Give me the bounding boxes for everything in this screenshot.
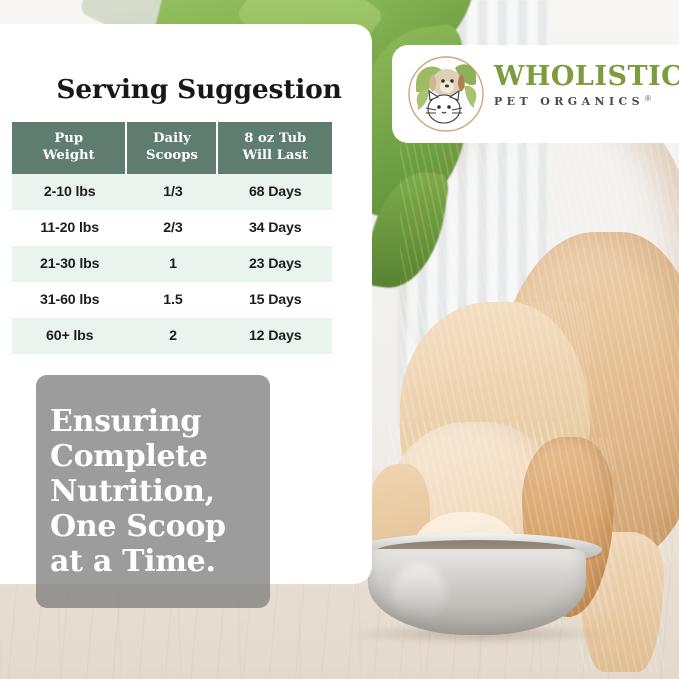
stainless-steel-dog-bowl [352, 533, 602, 641]
column-header-line1: Pup [54, 131, 83, 146]
brand-name: WHOLISTIC [494, 63, 679, 90]
tagline-panel: Ensuring Complete Nutrition, One Scoop a… [36, 375, 270, 608]
tagline-line: Ensuring [50, 404, 226, 439]
cell-weight: 31-60 lbs [12, 282, 127, 318]
serving-suggestion-table: Pup Weight Daily Scoops 8 oz Tub Will La… [12, 122, 332, 354]
golden-retriever-dog [372, 92, 679, 592]
cell-scoops: 1/3 [127, 174, 218, 210]
column-header-line2: Weight [43, 148, 95, 163]
tagline-text: Ensuring Complete Nutrition, One Scoop a… [36, 404, 226, 579]
tagline-line: Complete [50, 439, 226, 474]
cell-days: 12 Days [218, 318, 332, 354]
table-header-row: Pup Weight Daily Scoops 8 oz Tub Will La… [12, 122, 332, 174]
column-header-pup-weight: Pup Weight [12, 122, 127, 174]
tagline-line: Nutrition, [50, 474, 226, 509]
table-row: 31-60 lbs 1.5 15 Days [12, 282, 332, 318]
cell-scoops: 2/3 [127, 210, 218, 246]
cell-scoops: 2 [127, 318, 218, 354]
brand-wordmark: WHOLISTIC PET ORGANICS ® [494, 63, 679, 108]
column-header-line2: Will Last [242, 148, 308, 163]
registered-trademark-icon: ® [645, 95, 651, 103]
column-header-daily-scoops: Daily Scoops [127, 122, 218, 174]
column-header-tub-duration: 8 oz Tub Will Last [218, 122, 332, 174]
cell-scoops: 1 [127, 246, 218, 282]
column-header-line2: Scoops [146, 148, 198, 163]
cell-scoops: 1.5 [127, 282, 218, 318]
cell-weight: 11-20 lbs [12, 210, 127, 246]
cell-days: 23 Days [218, 246, 332, 282]
tagline-line: One Scoop [50, 509, 226, 544]
column-header-line1: 8 oz Tub [244, 131, 306, 146]
page-title: Serving Suggestion [44, 74, 354, 105]
cell-days: 68 Days [218, 174, 332, 210]
brand-logo-card: WHOLISTIC PET ORGANICS ® [392, 45, 679, 143]
cell-weight: 60+ lbs [12, 318, 127, 354]
dog-cat-leaf-badge-icon [406, 54, 486, 134]
infographic-canvas: Serving Suggestion Pup Weight Daily Scoo… [0, 0, 679, 679]
table-row: 21-30 lbs 1 23 Days [12, 246, 332, 282]
table-row: 2-10 lbs 1/3 68 Days [12, 174, 332, 210]
table-row: 60+ lbs 2 12 Days [12, 318, 332, 354]
bowl-highlight [392, 563, 446, 621]
brand-tagline-row: PET ORGANICS ® [494, 95, 679, 108]
table-body: 2-10 lbs 1/3 68 Days 11-20 lbs 2/3 34 Da… [12, 174, 332, 354]
brand-tagline: PET ORGANICS [494, 95, 644, 108]
column-header-line1: Daily [153, 131, 191, 146]
serving-table-wrapper: Pup Weight Daily Scoops 8 oz Tub Will La… [12, 122, 332, 354]
tagline-line: at a Time. [50, 544, 226, 579]
cell-days: 34 Days [218, 210, 332, 246]
cell-weight: 21-30 lbs [12, 246, 127, 282]
cell-weight: 2-10 lbs [12, 174, 127, 210]
table-row: 11-20 lbs 2/3 34 Days [12, 210, 332, 246]
table-header: Pup Weight Daily Scoops 8 oz Tub Will La… [12, 122, 332, 174]
cell-days: 15 Days [218, 282, 332, 318]
